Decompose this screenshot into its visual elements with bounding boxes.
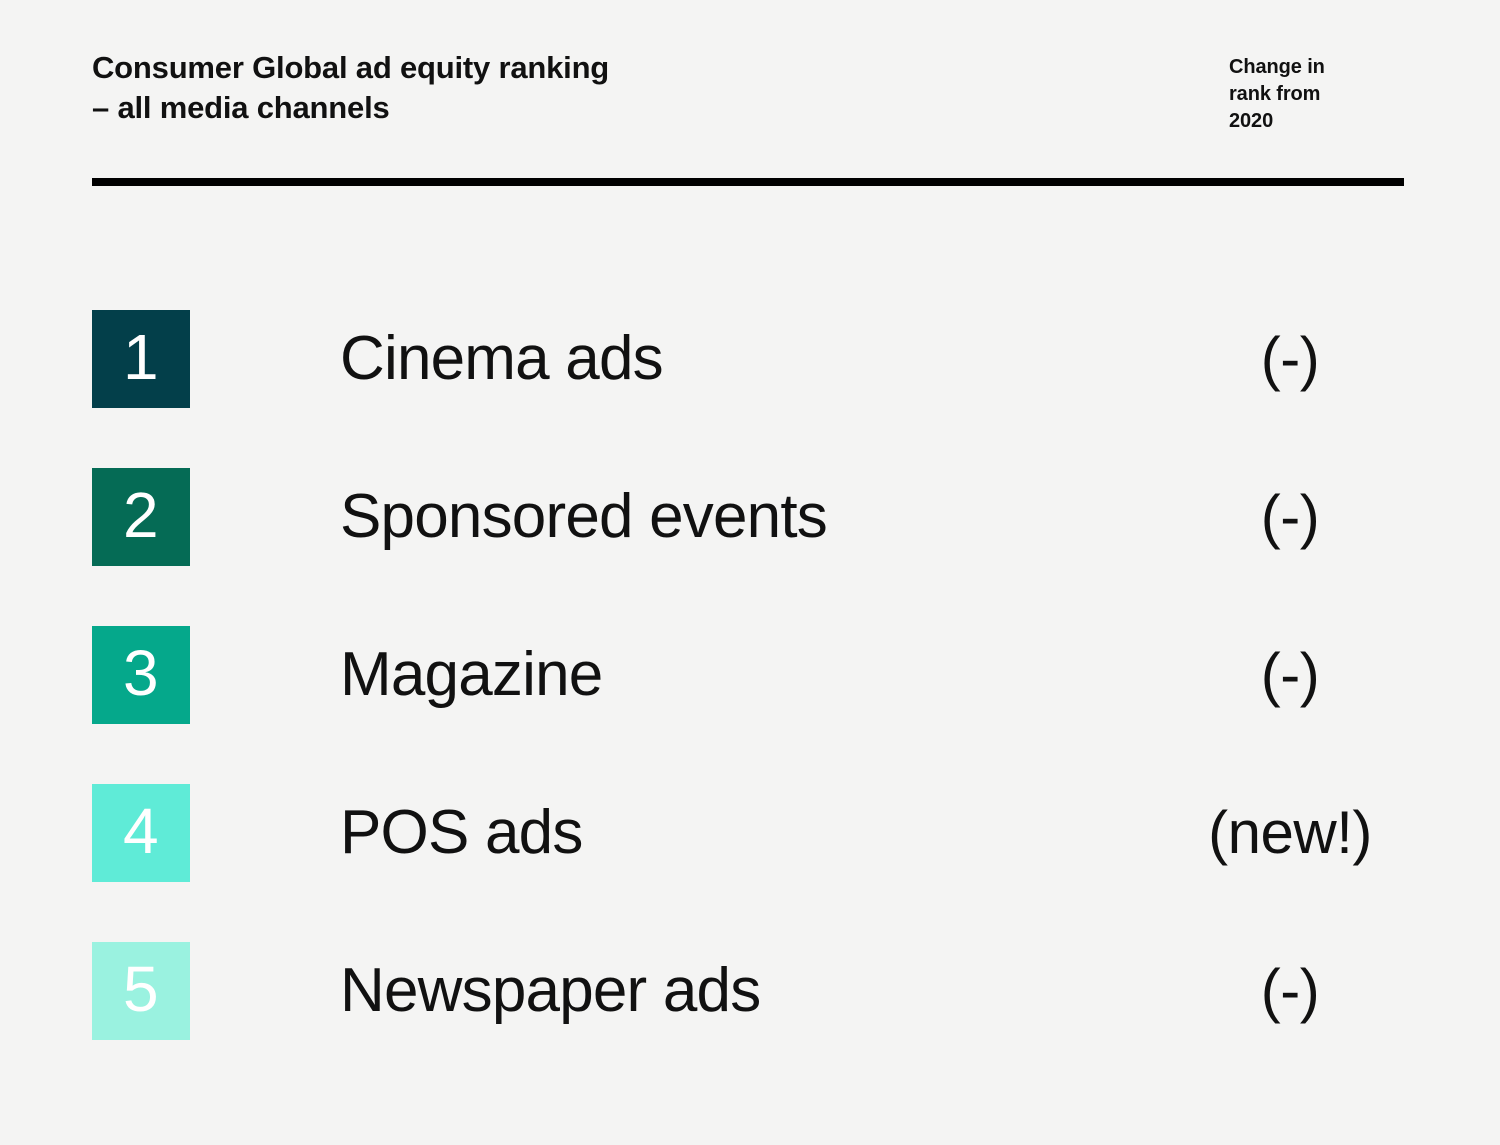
rank-change-value: (-) — [1160, 468, 1420, 566]
rank-number: 3 — [123, 641, 159, 705]
list-item: 5 Newspaper ads (-) — [0, 942, 1500, 1040]
rank-badge: 1 — [92, 310, 190, 408]
channel-label: POS ads — [340, 784, 583, 882]
rank-badge: 5 — [92, 942, 190, 1040]
rank-badge: 2 — [92, 468, 190, 566]
list-item: 4 POS ads (new!) — [0, 784, 1500, 882]
channel-label: Cinema ads — [340, 310, 663, 408]
channel-label: Sponsored events — [340, 468, 827, 566]
channel-label: Magazine — [340, 626, 602, 724]
list-item: 1 Cinema ads (-) — [0, 310, 1500, 408]
page-title: Consumer Global ad equity ranking – all … — [92, 48, 992, 127]
ad-equity-ranking-board: Consumer Global ad equity ranking – all … — [0, 0, 1500, 1145]
header-divider — [92, 178, 1404, 186]
change-column-header: Change in rank from 2020 — [1229, 54, 1404, 135]
header: Consumer Global ad equity ranking – all … — [92, 48, 1404, 158]
channel-label: Newspaper ads — [340, 942, 760, 1040]
list-item: 2 Sponsored events (-) — [0, 468, 1500, 566]
list-item: 3 Magazine (-) — [0, 626, 1500, 724]
rank-number: 2 — [123, 483, 159, 547]
rank-change-value: (-) — [1160, 942, 1420, 1040]
rank-badge: 4 — [92, 784, 190, 882]
rank-number: 4 — [123, 799, 159, 863]
ranking-list: 1 Cinema ads (-) 2 Sponsored events (-) … — [0, 310, 1500, 1100]
rank-number: 1 — [123, 325, 159, 389]
rank-change-value: (-) — [1160, 626, 1420, 724]
rank-change-value: (-) — [1160, 310, 1420, 408]
rank-number: 5 — [123, 957, 159, 1021]
rank-badge: 3 — [92, 626, 190, 724]
rank-change-value: (new!) — [1160, 784, 1420, 882]
